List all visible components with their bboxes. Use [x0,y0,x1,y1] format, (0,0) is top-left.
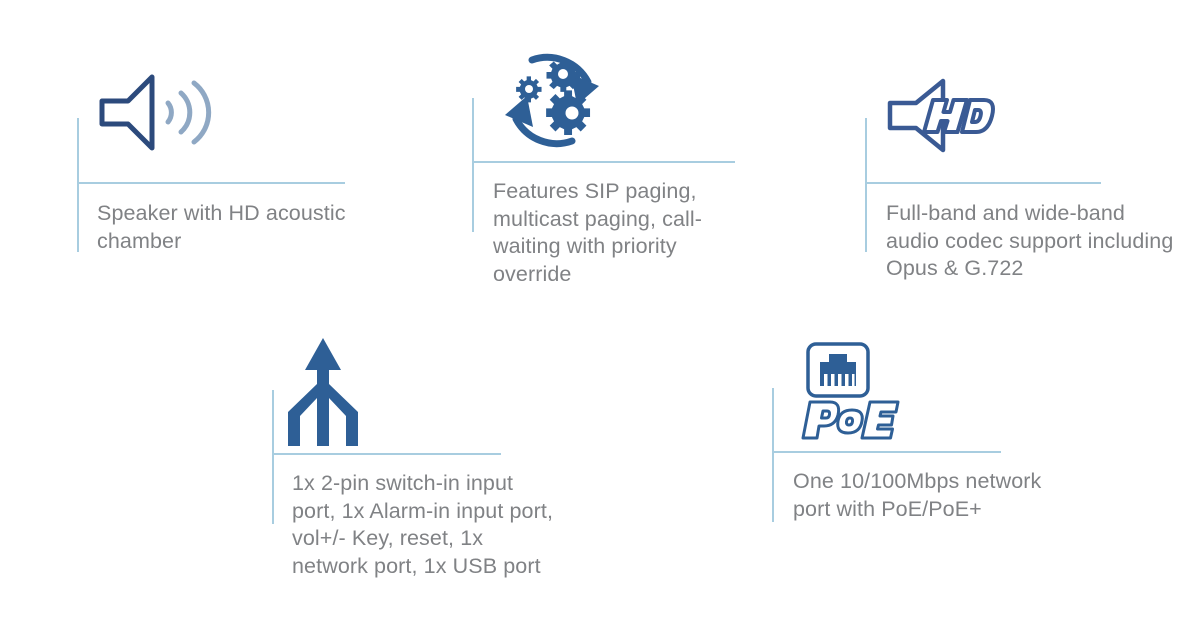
poe-rj45-icon [800,340,905,450]
accent-rule-horizontal [472,161,735,163]
feature-description: Speaker with HD acoustic chamber [97,200,407,255]
accent-rule-horizontal [272,453,501,455]
gears-cycle-icon [487,48,617,158]
speaker-sound-waves-icon [98,70,218,160]
feature-description: One 10/100Mbps network port with PoE/PoE… [793,468,1058,523]
accent-rule-horizontal [772,451,1001,453]
accent-rule-horizontal [77,182,345,184]
features-grid: Speaker with HD acoustic chamber [0,0,1200,630]
feature-description: Features SIP paging, multicast paging, c… [493,178,748,288]
speaker-hd-icon [886,76,996,161]
accent-rule-vertical [77,118,79,252]
accent-rule-vertical [865,118,867,252]
accent-rule-vertical [272,390,274,524]
feature-description: Full-band and wide-band audio codec supp… [886,200,1176,283]
converging-arrows-icon [287,336,359,451]
feature-description: 1x 2-pin switch-in input port, 1x Alarm-… [292,470,562,580]
accent-rule-vertical [772,388,774,522]
accent-rule-horizontal [865,182,1101,184]
accent-rule-vertical [472,98,474,232]
